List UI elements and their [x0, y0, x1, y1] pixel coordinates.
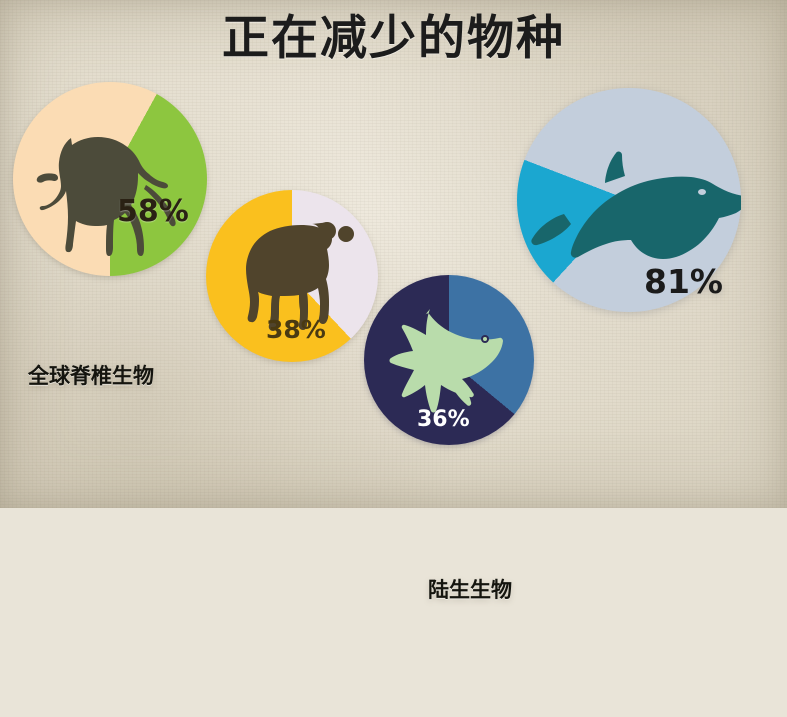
- pie-chart-marine-species: 36% 海洋生物: [364, 275, 534, 445]
- value-label-global-vertebrates: 58%: [117, 194, 189, 229]
- pie-chart-terrestrial-species: 38% 陆生生物: [206, 190, 378, 362]
- infographic-canvas: 正在减少的物种 58% 全球脊椎生物 38% 陆生生物 36% 海洋: [0, 0, 787, 508]
- caption-terrestrial-species: 陆生生物: [428, 574, 512, 604]
- page-title: 正在减少的物种: [0, 8, 787, 70]
- value-label-freshwater-species: 81%: [644, 262, 723, 301]
- caption-global-vertebrates: 全球脊椎生物: [28, 360, 154, 390]
- value-label-marine-species: 36%: [417, 407, 470, 432]
- pie-chart-global-vertebrates: 58% 全球脊椎生物: [13, 82, 207, 276]
- pie-chart-freshwater-species: 81% 淡水生物: [517, 88, 741, 312]
- pie-slices-global-vertebrates: [13, 82, 207, 276]
- value-label-terrestrial-species: 38%: [266, 315, 326, 344]
